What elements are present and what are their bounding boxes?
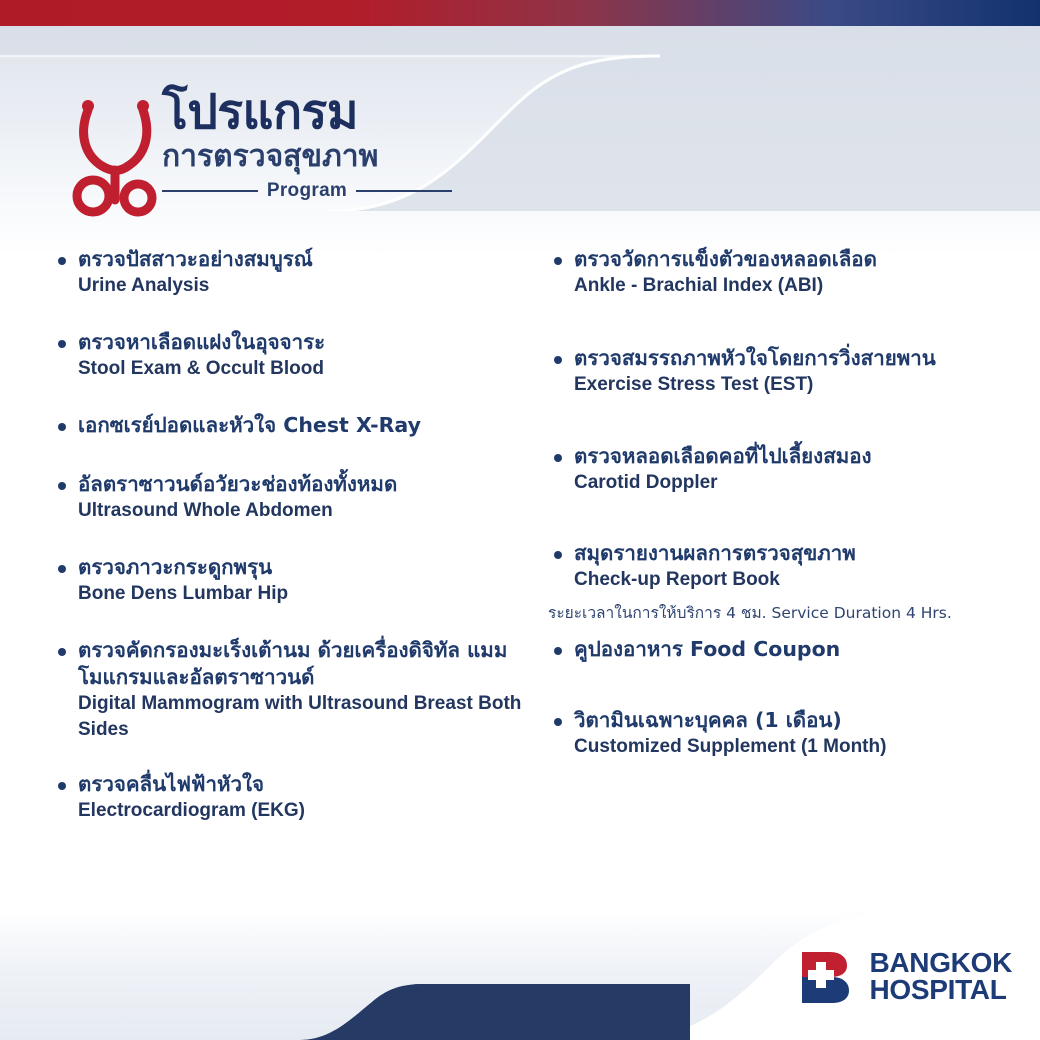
list-item: ตรวจคัดกรองมะเร็งเต้านม ด้วยเครื่องดิจิท… [52,637,522,742]
list-item: ตรวจภาวะกระดูกพรุน Bone Dens Lumbar Hip [52,554,522,607]
item-thai: ตรวจคลื่นไฟฟ้าหัวใจ [78,771,522,798]
bangkok-hospital-mark-icon [796,946,858,1008]
list-item: สมุดรายงานผลการตรวจสุขภาพ Check-up Repor… [548,540,1018,593]
item-english: Ankle - Brachial Index (ABI) [574,273,1018,298]
bullet-icon [554,551,562,559]
item-thai: อัลตราซาวนด์อวัยวะช่องท้องทั้งหมด [78,471,522,498]
program-poster: โปรแกรม การตรวจสุขภาพ Program ตรวจปัสสาว… [0,0,1040,1040]
item-english: Stool Exam & Occult Blood [78,356,522,381]
item-english: Electrocardiogram (EKG) [78,798,522,823]
top-gradient-bar [0,0,1040,26]
item-english: Exercise Stress Test (EST) [574,372,1018,397]
list-item: เอกซเรย์ปอดและหัวใจ Chest X-Ray [52,412,522,439]
item-thai: คูปองอาหาร Food Coupon [574,636,1018,663]
item-english: Customized Supplement (1 Month) [574,734,1018,759]
item-thai: เอกซเรย์ปอดและหัวใจ Chest X-Ray [78,412,522,439]
item-thai: ตรวจสมรรถภาพหัวใจโดยการวิ่งสายพาน [574,345,1018,372]
item-english: Check-up Report Book [574,567,1018,592]
item-thai: สมุดรายงานผลการตรวจสุขภาพ [574,540,1018,567]
right-column: ตรวจวัดการแข็งตัวของหลอดเลือด Ankle - Br… [548,246,1018,786]
bangkok-hospital-wordmark: BANGKOK HOSPITAL [869,950,1012,1004]
list-item: คูปองอาหาร Food Coupon [548,636,1018,663]
list-item: ตรวจหลอดเลือดคอที่ไปเลี้ยงสมอง Carotid D… [548,443,1018,496]
bullet-icon [58,482,66,490]
list-item: ตรวจสมรรถภาพหัวใจโดยการวิ่งสายพาน Exerci… [548,345,1018,398]
bullet-icon [554,356,562,364]
list-item: ตรวจคลื่นไฟฟ้าหัวใจ Electrocardiogram (E… [52,771,522,824]
brand-line-2: HOSPITAL [869,977,1012,1004]
item-thai: ตรวจภาวะกระดูกพรุน [78,554,522,581]
list-item: ตรวจปัสสาวะอย่างสมบูรณ์ Urine Analysis [52,246,522,299]
left-column: ตรวจปัสสาวะอย่างสมบูรณ์ Urine Analysis ต… [52,246,522,850]
list-item: อัลตราซาวนด์อวัยวะช่องท้องทั้งหมด Ultras… [52,471,522,524]
bullet-icon [58,565,66,573]
bullet-icon [554,257,562,265]
service-list-columns: ตรวจปัสสาวะอย่างสมบูรณ์ Urine Analysis ต… [0,246,1040,906]
stethoscope-icon [68,90,164,218]
bullet-icon [58,423,66,431]
service-duration-note: ระยะเวลาในการให้บริการ 4 ชม. Service Dur… [548,600,952,625]
program-rule-left [162,190,258,192]
bullet-icon [58,782,66,790]
bullet-icon [554,454,562,462]
bullet-icon [58,648,66,656]
item-english: Carotid Doppler [574,470,1018,495]
list-item: ตรวจวัดการแข็งตัวของหลอดเลือด Ankle - Br… [548,246,1018,299]
program-title-block: โปรแกรม การตรวจสุขภาพ Program [162,88,472,202]
brand-line-1: BANGKOK [869,950,1012,977]
program-divider-row: Program [162,180,452,202]
item-thai: ตรวจปัสสาวะอย่างสมบูรณ์ [78,246,522,273]
program-rule-right [356,190,452,192]
item-thai: ตรวจหลอดเลือดคอที่ไปเลี้ยงสมอง [574,443,1018,470]
item-thai: ตรวจวัดการแข็งตัวของหลอดเลือด [574,246,1018,273]
item-english: Bone Dens Lumbar Hip [78,581,522,606]
item-thai: วิตามินเฉพาะบุคคล (1 เดือน) [574,707,1018,734]
title-thai-main: โปรแกรม [162,88,472,136]
item-english: Digital Mammogram with Ultrasound Breast… [78,691,522,742]
item-thai: ตรวจหาเลือดแฝงในอุจจาระ [78,329,522,356]
program-logo-lockup: โปรแกรม การตรวจสุขภาพ Program [68,88,468,228]
item-thai: ตรวจคัดกรองมะเร็งเต้านม ด้วยเครื่องดิจิท… [78,637,522,691]
program-word: Program [267,180,347,202]
item-english: Ultrasound Whole Abdomen [78,498,522,523]
bullet-icon [554,718,562,726]
title-thai-sub: การตรวจสุขภาพ [162,140,472,175]
list-item: วิตามินเฉพาะบุคคล (1 เดือน) Customized S… [548,707,1018,760]
item-english: Urine Analysis [78,273,522,298]
bangkok-hospital-logo: BANGKOK HOSPITAL [796,946,1012,1008]
bullet-icon [554,647,562,655]
bullet-icon [58,340,66,348]
list-item: ตรวจหาเลือดแฝงในอุจจาระ Stool Exam & Occ… [52,329,522,382]
bullet-icon [58,257,66,265]
